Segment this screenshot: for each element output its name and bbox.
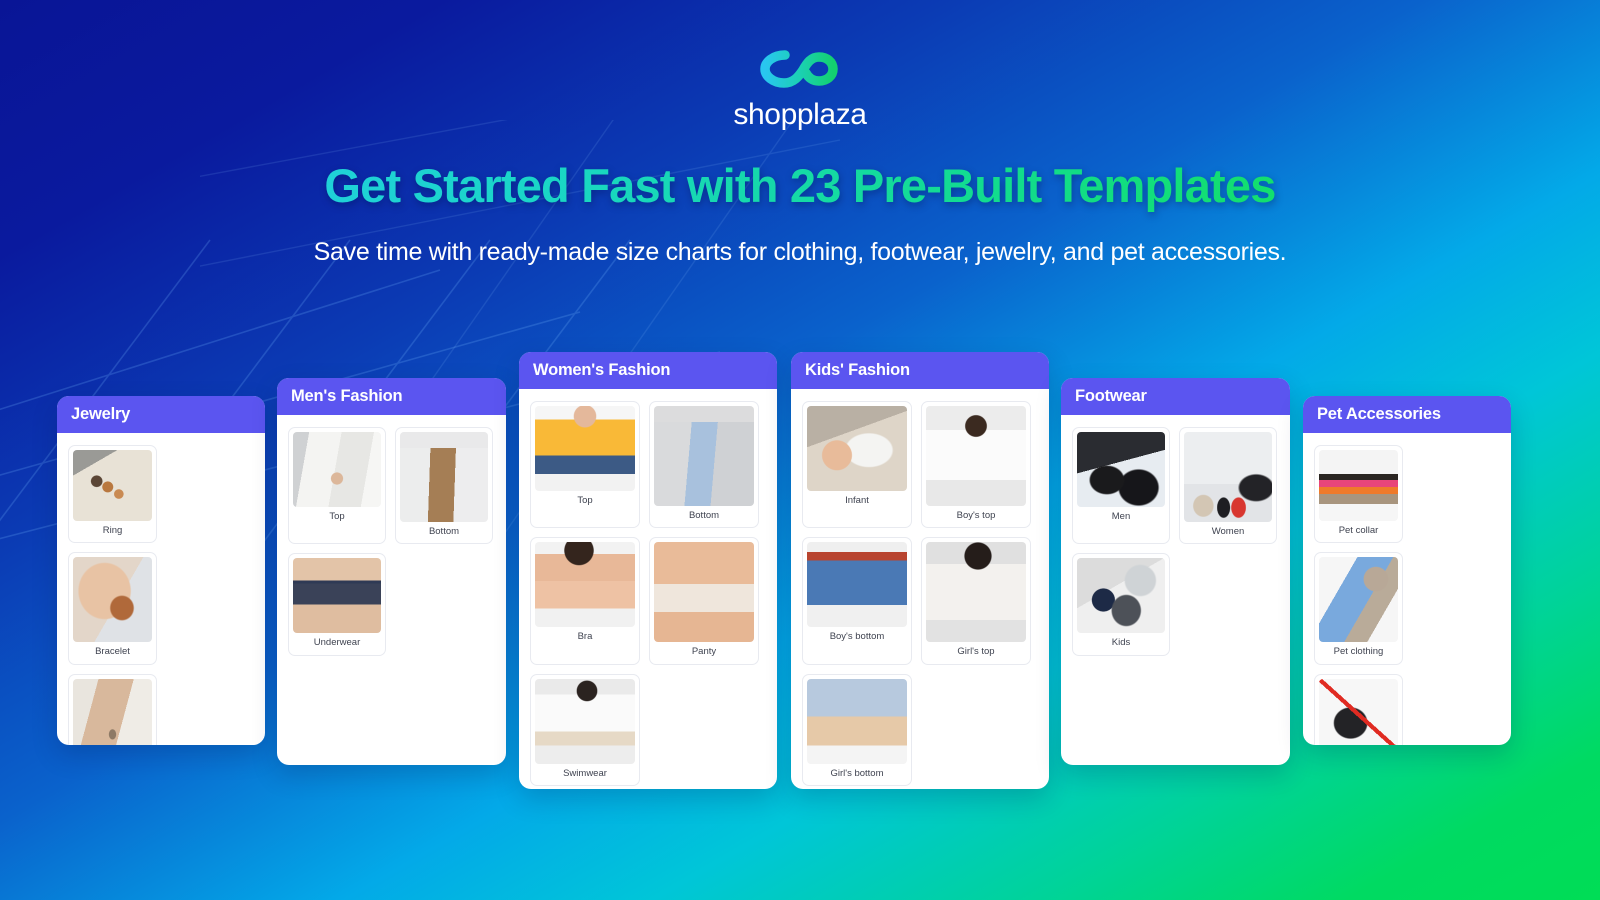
template-tile-label: Girl's bottom [807, 764, 907, 785]
template-category-card[interactable]: Men's FashionTopBottomUnderwear [277, 378, 506, 765]
template-tile-label: Women [1184, 522, 1272, 543]
card-header: Men's Fashion [277, 378, 506, 415]
template-category-card[interactable]: JewelryRingBraceletNecklace [57, 396, 265, 745]
necklace-photo [73, 679, 152, 745]
card-header: Jewelry [57, 396, 265, 433]
womens-bra-photo [535, 542, 635, 627]
page-title: Get Started Fast with 23 Pre-Built Templ… [0, 158, 1600, 213]
template-tile[interactable]: Pet harness [1314, 674, 1403, 745]
card-title: Women's Fashion [533, 361, 670, 380]
template-tile[interactable]: Swimwear [530, 674, 640, 786]
mens-chinos-photo [400, 432, 488, 522]
template-category-card[interactable]: Pet AccessoriesPet collarPet clothingPet… [1303, 396, 1511, 745]
card-title: Pet Accessories [1317, 405, 1441, 424]
template-tile[interactable]: Panty [649, 537, 759, 664]
template-tile-label: Bracelet [73, 642, 152, 663]
template-tile-label: Top [293, 507, 381, 528]
card-title: Kids' Fashion [805, 361, 910, 380]
infinity-logo-icon [758, 46, 842, 92]
template-tile[interactable]: Women [1179, 427, 1277, 544]
girls-bottom-photo [807, 679, 907, 764]
template-tile-grid: TopBottomBraPantySwimwear [519, 389, 777, 789]
template-tile-label: Underwear [293, 633, 381, 654]
card-header: Footwear [1061, 378, 1290, 415]
card-title: Men's Fashion [291, 387, 402, 406]
template-tile-label: Men [1077, 507, 1165, 528]
template-tile-grid: InfantBoy's topBoy's bottomGirl's topGir… [791, 389, 1049, 789]
pet-harness-photo [1319, 679, 1398, 745]
page-subtitle: Save time with ready-made size charts fo… [0, 238, 1600, 267]
template-tile-label: Pet clothing [1319, 642, 1398, 663]
kids-sneakers-photo [1077, 558, 1165, 633]
template-tile[interactable]: Girl's bottom [802, 674, 912, 786]
womens-shoes-photo [1184, 432, 1272, 522]
card-header: Pet Accessories [1303, 396, 1511, 433]
ring-photo [73, 450, 152, 521]
womens-jeans-photo [654, 406, 754, 506]
template-tile[interactable]: Necklace [68, 674, 157, 745]
template-tile[interactable]: Top [530, 401, 640, 528]
womens-tshirt-photo [535, 406, 635, 491]
template-tile-label: Pet collar [1319, 521, 1398, 542]
promo-banner: shopplaza Get Started Fast with 23 Pre-B… [0, 0, 1600, 900]
template-tile[interactable]: Boy's bottom [802, 537, 912, 664]
template-tile-label: Bra [535, 627, 635, 648]
template-tile-grid: MenWomenKids [1061, 415, 1290, 668]
template-tile[interactable]: Top [288, 427, 386, 544]
template-tile-label: Infant [807, 491, 907, 512]
pet-collar-photo [1319, 450, 1398, 521]
template-tile-label: Boy's bottom [807, 627, 907, 648]
boys-top-photo [926, 406, 1026, 506]
mens-shirt-photo [293, 432, 381, 507]
template-tile[interactable]: Bra [530, 537, 640, 664]
pet-clothing-photo [1319, 557, 1398, 642]
mens-boxers-photo [293, 558, 381, 633]
template-tile[interactable]: Pet collar [1314, 445, 1403, 543]
infant-photo [807, 406, 907, 491]
template-tile-label: Boy's top [926, 506, 1026, 527]
card-header: Women's Fashion [519, 352, 777, 389]
template-tile[interactable]: Girl's top [921, 537, 1031, 664]
template-tile[interactable]: Ring [68, 445, 157, 543]
template-tile-label: Ring [73, 521, 152, 542]
template-tile-grid: Pet collarPet clothingPet harnessPet lea… [1303, 433, 1511, 745]
template-tile-label: Girl's top [926, 642, 1026, 663]
template-tile[interactable]: Bottom [395, 427, 493, 544]
template-tile-label: Swimwear [535, 764, 635, 785]
template-tile-grid: RingBraceletNecklace [57, 433, 265, 745]
template-tile-label: Bottom [400, 522, 488, 543]
template-tile[interactable]: Underwear [288, 553, 386, 655]
template-tile-label: Top [535, 491, 635, 512]
template-tile-grid: TopBottomUnderwear [277, 415, 506, 668]
mens-dress-shoes-photo [1077, 432, 1165, 507]
template-category-card[interactable]: Women's FashionTopBottomBraPantySwimwear [519, 352, 777, 789]
template-tile-label: Kids [1077, 633, 1165, 654]
card-title: Footwear [1075, 387, 1147, 406]
template-tile[interactable]: Bracelet [68, 552, 157, 664]
womens-swimsuit-photo [535, 679, 635, 764]
template-tile[interactable]: Infant [802, 401, 912, 528]
template-tile-label: Panty [654, 642, 754, 663]
template-tile-label: Bottom [654, 506, 754, 527]
template-category-card[interactable]: FootwearMenWomenKids [1061, 378, 1290, 765]
womens-panty-photo [654, 542, 754, 642]
girls-top-photo [926, 542, 1026, 642]
template-tile[interactable]: Men [1072, 427, 1170, 544]
card-title: Jewelry [71, 405, 130, 424]
template-category-card[interactable]: Kids' FashionInfantBoy's topBoy's bottom… [791, 352, 1049, 789]
template-tile[interactable]: Pet clothing [1314, 552, 1403, 664]
boys-bottom-photo [807, 542, 907, 627]
card-header: Kids' Fashion [791, 352, 1049, 389]
template-tile[interactable]: Kids [1072, 553, 1170, 655]
brand-lockup: shopplaza [0, 46, 1600, 132]
bracelet-photo [73, 557, 152, 642]
template-tile[interactable]: Bottom [649, 401, 759, 528]
brand-name: shopplaza [0, 98, 1600, 132]
template-tile[interactable]: Boy's top [921, 401, 1031, 528]
